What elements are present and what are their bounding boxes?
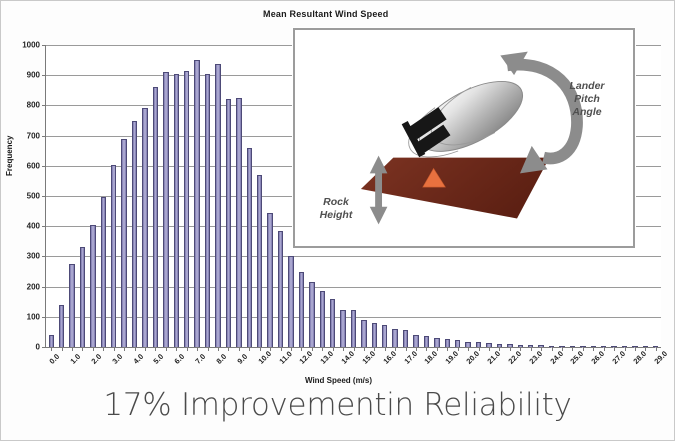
histogram-bar [184,71,189,347]
histogram-bar [111,165,116,347]
histogram-bar [288,256,293,347]
figure-root: Mean Resultant Wind Speed Frequency 0100… [0,0,675,441]
x-tick-mark [239,347,240,351]
y-tick-label: 0 [36,343,40,352]
histogram-bar [132,121,137,347]
histogram-bar [59,305,64,347]
lander-pitch-angle-label: Lander Pitch Angle [547,80,627,119]
y-tick-label: 400 [27,222,40,231]
x-tick-mark [166,347,167,351]
lander-pitch-line-3: Angle [572,106,601,118]
histogram-bar [278,231,283,347]
x-tick-label: 27.0 [611,349,628,366]
x-tick-mark [364,347,365,351]
histogram-bar [445,339,450,347]
x-tick-mark [51,347,52,351]
histogram-bar [236,98,241,347]
x-tick-mark [155,347,156,351]
histogram-bar [361,320,366,347]
x-tick-mark [510,347,511,351]
x-tick-label: 8.0 [214,352,228,366]
histogram-bar [163,72,168,347]
histogram-bar [174,74,179,347]
x-tick-mark [479,347,480,351]
x-tick-mark [135,347,136,351]
x-tick-label: 24.0 [548,349,565,366]
histogram-bar [69,264,74,347]
x-tick-label: 3.0 [110,352,124,366]
x-tick-label: 1.0 [69,352,83,366]
x-tick-mark [145,347,146,351]
histogram-bar [320,291,325,347]
x-tick-mark [426,347,427,351]
x-tick-label: 6.0 [173,352,187,366]
x-tick-label: 28.0 [631,349,648,366]
x-tick-mark [541,347,542,351]
x-tick-mark [218,347,219,351]
x-tick-mark [374,347,375,351]
x-tick-label: 22.0 [506,349,523,366]
x-tick-label: 25.0 [569,349,586,366]
y-tick-label: 900 [27,71,40,80]
x-tick-mark [437,347,438,351]
wind-speed-histogram: Mean Resultant Wind Speed Frequency 0100… [1,1,675,391]
histogram-bar [226,99,231,347]
figure-caption: 17% Improvementin Reliability [1,387,674,423]
x-tick-mark [468,347,469,351]
x-tick-label: 13.0 [319,349,336,366]
x-tick-mark [281,347,282,351]
histogram-bar [392,329,397,347]
histogram-bar [49,335,54,347]
x-tick-mark [322,347,323,351]
x-tick-label: 7.0 [194,352,208,366]
x-tick-mark [395,347,396,351]
x-tick-label: 19.0 [444,349,461,366]
x-tick-mark [187,347,188,351]
histogram-bar [351,310,356,347]
histogram-bar [309,282,314,347]
x-tick-mark [62,347,63,351]
histogram-bar [205,74,210,347]
x-tick-mark [562,347,563,351]
x-tick-mark [552,347,553,351]
rock-height-label: Rock Height [301,196,371,222]
y-tick-label: 200 [27,282,40,291]
x-tick-mark [645,347,646,351]
histogram-bar [90,225,95,347]
histogram-bar [413,335,418,347]
x-tick-mark [635,347,636,351]
x-tick-label: 17.0 [402,349,419,366]
x-tick-mark [312,347,313,351]
histogram-bar [215,64,220,347]
x-tick-mark [458,347,459,351]
x-tick-mark [270,347,271,351]
x-tick-mark [416,347,417,351]
y-tick-label: 500 [27,192,40,201]
histogram-bar [382,325,387,347]
x-tick-mark [124,347,125,351]
histogram-bar [455,340,460,347]
x-tick-mark [614,347,615,351]
histogram-bar [153,87,158,347]
x-tick-mark [197,347,198,351]
x-tick-mark [208,347,209,351]
histogram-bar [247,148,252,347]
histogram-bar [267,213,272,347]
lander-body [398,67,533,171]
x-tick-label: 18.0 [423,349,440,366]
x-tick-mark [572,347,573,351]
x-tick-mark [228,347,229,351]
x-tick-label: 10.0 [256,349,273,366]
x-tick-mark [604,347,605,351]
histogram-bar [142,108,147,347]
y-tick-label: 100 [27,312,40,321]
lander-pitch-line-1: Lander [569,80,604,92]
y-tick-label: 1000 [22,41,40,50]
x-tick-label: 9.0 [235,352,249,366]
x-tick-label: 29.0 [652,349,669,366]
histogram-bar [372,323,377,347]
x-tick-label: 14.0 [340,349,357,366]
x-tick-mark [625,347,626,351]
x-tick-mark [333,347,334,351]
x-tick-mark [593,347,594,351]
x-tick-label: 20.0 [465,349,482,366]
x-tick-mark [82,347,83,351]
chart-title: Mean Resultant Wind Speed [263,9,388,19]
histogram-bar [101,197,106,347]
x-tick-label: 0.0 [48,352,62,366]
x-tick-mark [103,347,104,351]
histogram-bar [80,247,85,347]
x-tick-mark [343,347,344,351]
x-tick-mark [385,347,386,351]
histogram-bar [340,310,345,347]
y-tick-label: 700 [27,131,40,140]
y-tick-label: 300 [27,252,40,261]
x-tick-label: 15.0 [360,349,377,366]
rock-height-line-2: Height [320,209,353,221]
x-tick-mark [72,347,73,351]
y-tick-label: 800 [27,101,40,110]
histogram-bar [330,299,335,347]
y-axis-title: Frequency [5,136,14,176]
x-tick-mark [176,347,177,351]
y-tick-label: 600 [27,161,40,170]
x-tick-mark [291,347,292,351]
lander-diagram-inset: Lander Pitch Angle Rock Height [293,28,635,248]
x-tick-mark [354,347,355,351]
histogram-bar [403,330,408,347]
histogram-bar [299,272,304,347]
x-tick-mark [114,347,115,351]
rock-height-line-1: Rock [323,196,349,208]
x-tick-label: 11.0 [277,349,293,365]
x-tick-mark [406,347,407,351]
x-tick-mark [531,347,532,351]
y-tick-mark [42,347,46,348]
x-tick-mark [260,347,261,351]
x-tick-mark [499,347,500,351]
x-tick-label: 12.0 [298,349,315,366]
histogram-bar [434,338,439,347]
x-tick-label: 2.0 [89,352,103,366]
x-tick-label: 23.0 [527,349,544,366]
histogram-bar [257,175,262,347]
x-tick-label: 16.0 [381,349,398,366]
histogram-bar [424,336,429,347]
lander-pitch-line-2: Pitch [574,93,600,105]
x-tick-label: 5.0 [152,352,166,366]
x-tick-mark [301,347,302,351]
x-tick-mark [93,347,94,351]
x-tick-mark [520,347,521,351]
x-axis-title: Wind Speed (m/s) [1,376,675,385]
x-tick-mark [249,347,250,351]
x-tick-mark [656,347,657,351]
x-tick-label: 4.0 [131,352,145,366]
x-tick-mark [489,347,490,351]
x-tick-mark [583,347,584,351]
ground-plane [361,158,550,219]
histogram-bar [194,60,199,347]
x-tick-label: 26.0 [590,349,607,366]
x-tick-mark [447,347,448,351]
histogram-bar [121,139,126,347]
x-tick-label: 21.0 [485,349,502,366]
